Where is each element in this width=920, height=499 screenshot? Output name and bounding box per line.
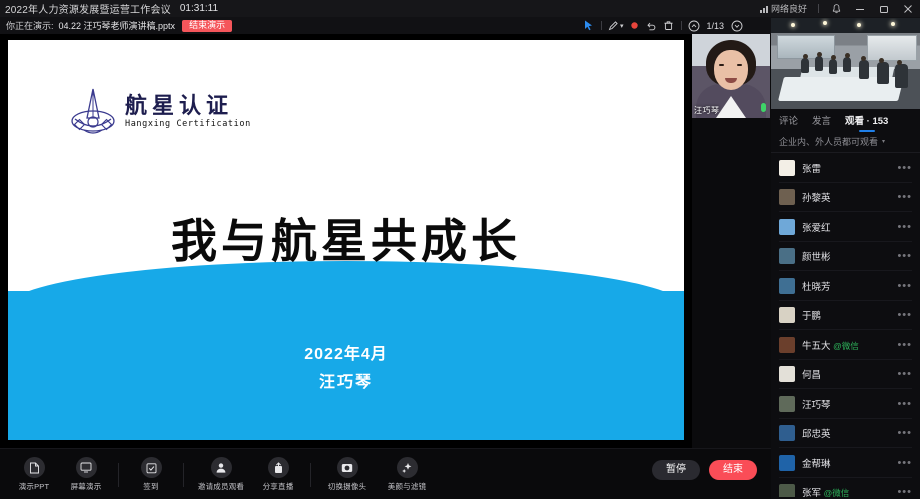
switch-camera-button[interactable]: 切换摄像头 xyxy=(317,457,377,492)
slide-title: 我与航星共成长 xyxy=(8,205,684,271)
more-options-icon[interactable]: ••• xyxy=(897,371,912,377)
tab-comments[interactable]: 评论 xyxy=(779,113,798,127)
participant-name: 张雷 xyxy=(802,161,890,175)
bottom-toolbar: 演示PPT 屏幕演示 签到 邀请成员观看 xyxy=(0,448,771,499)
divider xyxy=(183,463,184,487)
participant-name: 张爱红 xyxy=(802,220,890,234)
visibility-filter-label: 企业内、外人员都可观看 xyxy=(779,135,878,148)
ceiling-lamp xyxy=(791,23,795,27)
room-window-right xyxy=(867,35,917,61)
signal-bars-icon xyxy=(760,5,768,13)
more-options-icon[interactable]: ••• xyxy=(897,194,912,200)
list-item[interactable]: 汪巧琴 ••• xyxy=(771,389,920,419)
avatar xyxy=(779,396,795,412)
presentation-toolbar: ▾ 1/13 xyxy=(580,17,770,34)
invite-people-icon xyxy=(211,457,232,478)
avatar xyxy=(779,189,795,205)
minimize-icon[interactable] xyxy=(848,0,872,17)
list-item[interactable]: 张军 @微信 ••• xyxy=(771,478,920,498)
ceiling-lamp xyxy=(823,21,827,25)
presenting-label: 你正在演示: xyxy=(0,19,54,32)
avatar xyxy=(779,307,795,323)
present-ppt-button[interactable]: 演示PPT xyxy=(8,457,60,492)
room-person xyxy=(877,62,889,84)
speaker-eye-right xyxy=(737,64,742,66)
network-status: 网络良好 xyxy=(760,2,813,15)
invite-viewers-button[interactable]: 邀请成员观看 xyxy=(190,457,252,492)
room-person xyxy=(843,57,851,72)
more-options-icon[interactable]: ••• xyxy=(897,401,912,407)
list-item[interactable]: 牛五大 @微信 ••• xyxy=(771,330,920,360)
cursor-pointer-icon[interactable] xyxy=(580,17,597,34)
meeting-timer: 01:31:11 xyxy=(171,3,218,14)
list-item[interactable]: 金帮琳 ••• xyxy=(771,448,920,478)
beauty-filter-label: 美颜与滤镜 xyxy=(388,481,427,492)
avatar xyxy=(779,337,795,353)
room-person xyxy=(801,58,809,73)
screen-share-label: 屏幕演示 xyxy=(71,481,102,492)
live-meeting-window: 2022年人力资源发展暨运营工作会议 01:31:11 网络良好 你正在演示: xyxy=(0,0,920,499)
participant-name: 颜世彬 xyxy=(802,249,890,263)
participant-name: 于鹏 xyxy=(802,308,890,322)
list-item[interactable]: 何昌 ••• xyxy=(771,360,920,390)
slide-date: 2022年4月 xyxy=(8,340,684,364)
next-slide-icon[interactable] xyxy=(728,17,745,34)
toolbar-primary-actions: 暂停 结束 xyxy=(652,460,757,480)
list-item[interactable]: 颜世彬 ••• xyxy=(771,242,920,272)
room-person xyxy=(815,56,823,71)
share-live-label: 分享直播 xyxy=(263,481,294,492)
divider xyxy=(601,21,602,30)
participant-name: 汪巧琴 xyxy=(802,397,890,411)
participant-list[interactable]: 张雷 ••• 孙黎英 ••• 张爱红 ••• 颜世彬 ••• 杜晓芳 xyxy=(771,153,920,497)
divider xyxy=(818,4,819,13)
prev-slide-icon[interactable] xyxy=(686,17,703,34)
close-icon[interactable] xyxy=(896,0,920,17)
pen-chevron-down-icon[interactable]: ▾ xyxy=(620,22,624,30)
avatar xyxy=(779,425,795,441)
beauty-filter-button[interactable]: 美颜与滤镜 xyxy=(377,457,437,492)
avatar xyxy=(779,278,795,294)
list-item[interactable]: 张爱红 ••• xyxy=(771,212,920,242)
slide-page-indicator: 1/13 xyxy=(703,21,729,31)
slide-author: 汪巧琴 xyxy=(8,368,684,392)
right-side-panel: 评论 发言 观看 · 153 企业内、外人员都可观看 ▾ 张雷 ••• 孙黎英 … xyxy=(771,109,920,499)
speaker-video-tile[interactable]: 汪巧琴 xyxy=(692,34,770,118)
screen-share-button[interactable]: 屏幕演示 xyxy=(60,457,112,492)
list-item[interactable]: 孙黎英 ••• xyxy=(771,183,920,213)
visibility-filter[interactable]: 企业内、外人员都可观看 ▾ xyxy=(771,130,920,153)
laser-dot-icon[interactable] xyxy=(626,17,643,34)
ceiling-lamp xyxy=(857,23,861,27)
logo-english-name: Hangxing Certification xyxy=(125,119,251,129)
end-button[interactable]: 结束 xyxy=(709,460,757,480)
chevron-down-icon[interactable]: ▾ xyxy=(882,138,885,145)
divider xyxy=(310,463,311,487)
switch-camera-label: 切换摄像头 xyxy=(328,481,367,492)
mic-active-icon xyxy=(761,103,766,112)
more-options-icon[interactable]: ••• xyxy=(897,460,912,466)
more-options-icon[interactable]: ••• xyxy=(897,342,912,348)
speaker-face xyxy=(714,50,748,90)
tab-speak[interactable]: 发言 xyxy=(812,113,831,127)
participant-name: 牛五大 @微信 xyxy=(802,338,890,352)
more-options-icon[interactable]: ••• xyxy=(897,224,912,230)
stop-presenting-button[interactable]: 结束演示 xyxy=(182,20,232,32)
divider xyxy=(118,463,119,487)
company-logo: 航星认证 Hangxing Certification xyxy=(70,88,251,136)
avatar xyxy=(779,484,795,497)
hangxing-tower-logo xyxy=(70,88,116,136)
room-person xyxy=(859,60,869,79)
more-options-icon[interactable]: ••• xyxy=(897,489,912,495)
more-options-icon[interactable]: ••• xyxy=(897,312,912,318)
maximize-icon[interactable] xyxy=(872,0,896,17)
list-item[interactable]: 邱忠英 ••• xyxy=(771,419,920,449)
avatar xyxy=(779,248,795,264)
more-options-icon[interactable]: ••• xyxy=(897,165,912,171)
avatar xyxy=(779,219,795,235)
share-live-icon xyxy=(268,457,289,478)
room-person xyxy=(829,59,837,74)
divider xyxy=(681,21,682,30)
screen-share-icon xyxy=(76,457,97,478)
present-ppt-label: 演示PPT xyxy=(19,481,50,492)
toolbar-actions: 演示PPT 屏幕演示 签到 邀请成员观看 xyxy=(8,449,437,499)
check-in-label: 签到 xyxy=(143,481,158,492)
list-item[interactable]: 张雷 ••• xyxy=(771,153,920,183)
ppt-file-icon xyxy=(24,457,45,478)
meeting-title: 2022年人力资源发展暨运营工作会议 xyxy=(0,1,171,16)
presenting-file-name: 04.22 汪巧琴老师演讲稿.pptx xyxy=(54,19,176,32)
title-bar: 2022年人力资源发展暨运营工作会议 01:31:11 网络良好 xyxy=(0,0,920,17)
beauty-filter-icon xyxy=(397,457,418,478)
check-in-button[interactable]: 签到 xyxy=(125,457,177,492)
panel-tabs: 评论 发言 观看 · 153 xyxy=(771,109,920,130)
participant-name: 孙黎英 xyxy=(802,190,890,204)
switch-camera-icon xyxy=(337,457,358,478)
speaker-eye-left xyxy=(719,64,724,66)
pause-button[interactable]: 暂停 xyxy=(652,460,700,480)
share-live-button[interactable]: 分享直播 xyxy=(252,457,304,492)
pen-icon[interactable]: ▾ xyxy=(606,17,626,34)
trash-icon[interactable] xyxy=(660,17,677,34)
list-item[interactable]: 杜晓芳 ••• xyxy=(771,271,920,301)
presentation-slide: 航星认证 Hangxing Certification 我与航星共成长 2022… xyxy=(8,40,684,440)
room-video-tile[interactable] xyxy=(771,18,920,109)
participant-name: 何昌 xyxy=(802,367,890,381)
invite-viewers-label: 邀请成员观看 xyxy=(198,481,244,492)
logo-chinese-name: 航星认证 xyxy=(125,95,251,118)
avatar xyxy=(779,455,795,471)
avatar xyxy=(779,160,795,176)
participant-name: 张军 @微信 xyxy=(802,485,890,497)
participant-name: 邱忠英 xyxy=(802,426,890,440)
slide-stage[interactable]: 航星认证 Hangxing Certification 我与航星共成长 2022… xyxy=(0,34,692,448)
tab-viewers[interactable]: 观看 · 153 xyxy=(845,113,888,127)
avatar xyxy=(779,366,795,382)
bell-icon[interactable] xyxy=(824,0,848,17)
window-controls: 网络良好 xyxy=(760,0,920,17)
more-options-icon[interactable]: ••• xyxy=(897,253,912,259)
room-person xyxy=(895,64,908,88)
more-options-icon[interactable]: ••• xyxy=(897,430,912,436)
slide-blue-band xyxy=(8,291,684,440)
network-status-label: 网络良好 xyxy=(771,2,807,15)
ceiling-lamp xyxy=(891,22,895,26)
undo-icon[interactable] xyxy=(643,17,660,34)
participant-name: 杜晓芳 xyxy=(802,279,890,293)
participant-name: 金帮琳 xyxy=(802,456,890,470)
more-options-icon[interactable]: ••• xyxy=(897,283,912,289)
check-in-icon xyxy=(141,457,162,478)
list-item[interactable]: 于鹏 ••• xyxy=(771,301,920,331)
speaker-name-overlay: 汪巧琴 xyxy=(694,105,720,116)
